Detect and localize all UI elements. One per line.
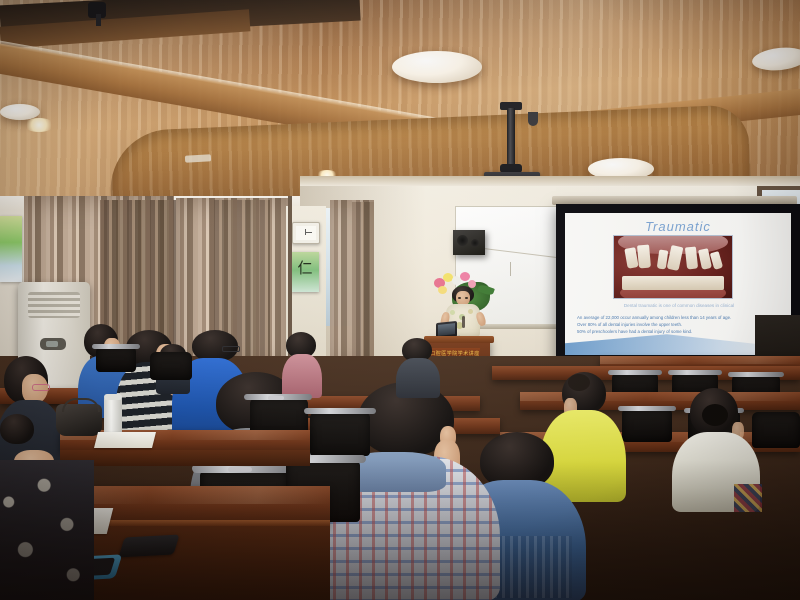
recessed-spotlight [24, 118, 54, 132]
chair[interactable] [622, 408, 672, 442]
audience-head [0, 414, 34, 444]
paper [94, 432, 156, 448]
chair[interactable] [96, 346, 136, 372]
glasses-icon [222, 346, 240, 352]
wall-speaker [453, 230, 485, 255]
poster-character: 仁 [291, 252, 319, 286]
slide-subtitle: Dental traumatic is one of common diseas… [573, 303, 785, 308]
wall-poster-left [0, 216, 22, 282]
window-curtain-right-fold [352, 202, 374, 368]
ac-vent [28, 292, 80, 318]
wall-poster-character: 仁 [291, 252, 319, 292]
chair[interactable] [310, 412, 370, 456]
ceiling-dome-light [392, 51, 482, 83]
audience-person-dark-mid [396, 338, 440, 396]
slide-bullet: 50% of preschoolers have had a dental in… [577, 329, 783, 334]
chair[interactable] [150, 352, 192, 380]
wall-clock [292, 222, 320, 244]
glasses-icon [32, 384, 50, 391]
lecture-hall-photo: 仁 Traumatic [0, 0, 800, 600]
slide-title: Traumatic [565, 219, 791, 234]
chair[interactable] [752, 412, 800, 448]
audience-person-pink-mid [282, 332, 324, 396]
projector-pole [507, 108, 515, 168]
slide-bullet: Over 80% of all dental injuries involve … [577, 322, 783, 327]
slide-bullet: An average of 22,000 occur annually amon… [577, 315, 783, 320]
slide-image [613, 235, 733, 299]
